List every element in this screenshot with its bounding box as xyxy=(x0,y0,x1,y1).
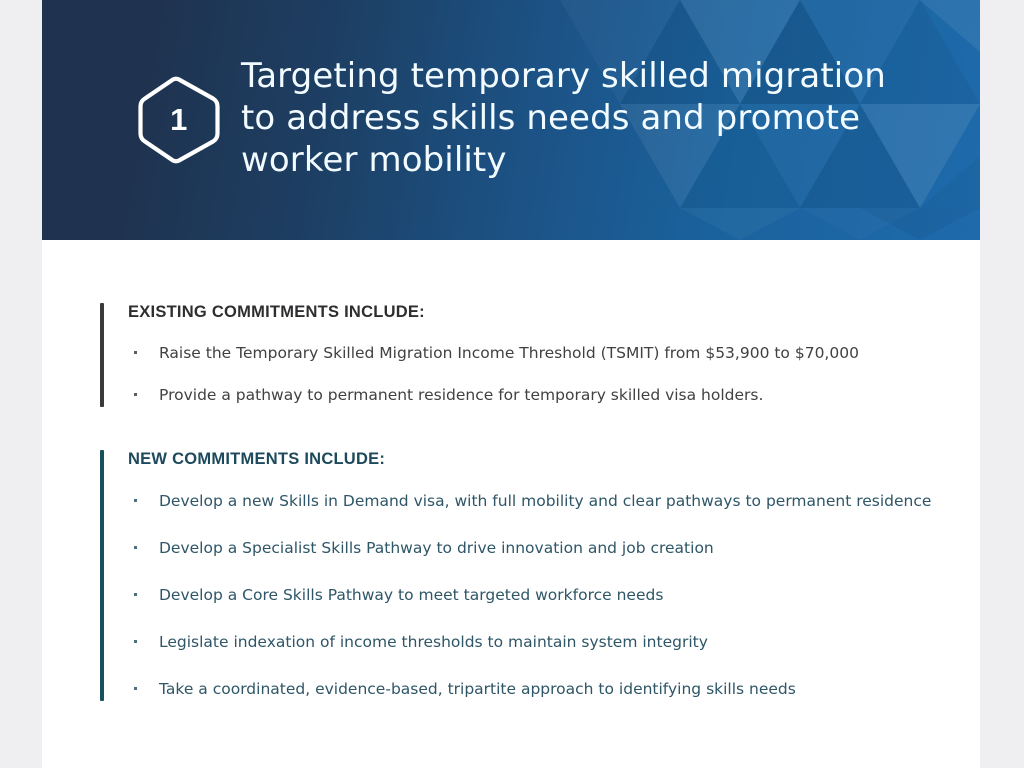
list-item: Take a coordinated, evidence-based, trip… xyxy=(128,678,980,701)
bullet-marker-icon xyxy=(134,640,137,643)
page-title: Targeting temporary skilled migration to… xyxy=(241,55,931,181)
list-item: Develop a Core Skills Pathway to meet ta… xyxy=(128,584,980,607)
existing-commitments-list: Raise the Temporary Skilled Migration In… xyxy=(128,342,980,407)
list-item: Raise the Temporary Skilled Migration In… xyxy=(128,342,980,365)
list-item: Provide a pathway to permanent residence… xyxy=(128,384,980,407)
list-item: Develop a Specialist Skills Pathway to d… xyxy=(128,537,980,560)
list-item-text: Provide a pathway to permanent residence… xyxy=(159,386,763,404)
list-item-text: Take a coordinated, evidence-based, trip… xyxy=(159,680,796,698)
bullet-marker-icon xyxy=(134,546,137,549)
new-commitments-list: Develop a new Skills in Demand visa, wit… xyxy=(128,490,980,701)
list-item-text: Develop a Specialist Skills Pathway to d… xyxy=(159,539,714,557)
list-item-text: Develop a Core Skills Pathway to meet ta… xyxy=(159,586,663,604)
section-existing-commitments: EXISTING COMMITMENTS INCLUDE: Raise the … xyxy=(100,303,980,407)
section-heading-new: NEW COMMITMENTS INCLUDE: xyxy=(128,450,980,469)
bullet-marker-icon xyxy=(134,499,137,502)
step-number-badge: 1 xyxy=(133,74,225,166)
bullet-marker-icon xyxy=(134,593,137,596)
step-number: 1 xyxy=(133,74,225,166)
list-item-text: Raise the Temporary Skilled Migration In… xyxy=(159,344,859,362)
section-accent-rule xyxy=(100,450,104,701)
bullet-marker-icon xyxy=(134,687,137,690)
section-accent-rule xyxy=(100,303,104,407)
content-area: EXISTING COMMITMENTS INCLUDE: Raise the … xyxy=(42,303,980,701)
list-item: Legislate indexation of income threshold… xyxy=(128,631,980,654)
document-page: 1 Targeting temporary skilled migration … xyxy=(42,0,980,768)
list-item: Develop a new Skills in Demand visa, wit… xyxy=(128,490,980,513)
bullet-marker-icon xyxy=(134,351,137,354)
list-item-text: Develop a new Skills in Demand visa, wit… xyxy=(159,492,931,510)
header-banner: 1 Targeting temporary skilled migration … xyxy=(42,0,980,240)
section-heading-existing: EXISTING COMMITMENTS INCLUDE: xyxy=(128,303,980,322)
section-new-commitments: NEW COMMITMENTS INCLUDE: Develop a new S… xyxy=(100,450,980,701)
list-item-text: Legislate indexation of income threshold… xyxy=(159,633,708,651)
bullet-marker-icon xyxy=(134,393,137,396)
